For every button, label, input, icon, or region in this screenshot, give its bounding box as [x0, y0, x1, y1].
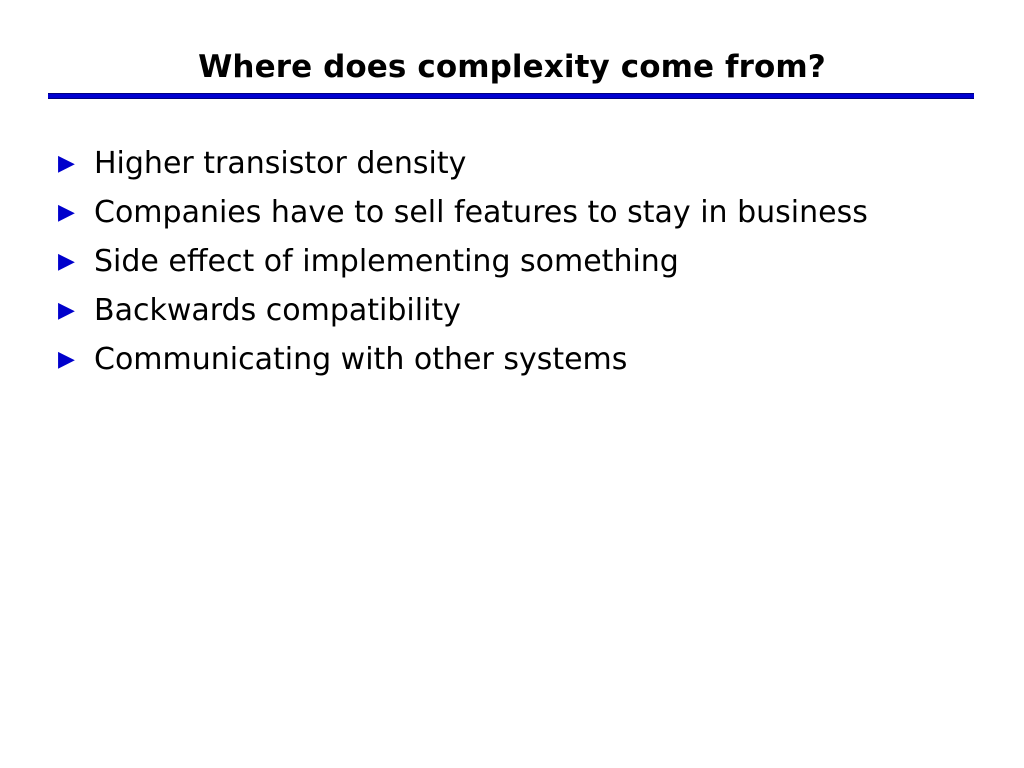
list-item: ▶ Backwards compatibility — [58, 287, 944, 334]
triangle-bullet-icon: ▶ — [58, 140, 84, 187]
list-item-label: Communicating with other systems — [94, 336, 944, 383]
list-item: ▶ Higher transistor density — [58, 140, 944, 187]
list-item-label: Higher transistor density — [94, 140, 944, 187]
list-item: ▶ Communicating with other systems — [58, 336, 944, 383]
triangle-bullet-icon: ▶ — [58, 287, 84, 334]
triangle-bullet-icon: ▶ — [58, 238, 84, 285]
title-block: Where does complexity come from? — [0, 48, 1024, 86]
list-item: ▶ Side effect of implementing something — [58, 238, 944, 285]
presentation-slide: Where does complexity come from? ▶ Highe… — [0, 0, 1024, 768]
triangle-bullet-icon: ▶ — [58, 336, 84, 383]
list-item-label: Backwards compatibility — [94, 287, 944, 334]
list-item-label: Companies have to sell features to stay … — [94, 189, 944, 236]
title-underline-rule — [48, 93, 974, 99]
triangle-bullet-icon: ▶ — [58, 189, 84, 236]
bullet-list: ▶ Higher transistor density ▶ Companies … — [58, 140, 988, 385]
list-item-label: Side effect of implementing something — [94, 238, 944, 285]
list-item: ▶ Companies have to sell features to sta… — [58, 189, 944, 236]
page-title: Where does complexity come from? — [0, 48, 1024, 86]
